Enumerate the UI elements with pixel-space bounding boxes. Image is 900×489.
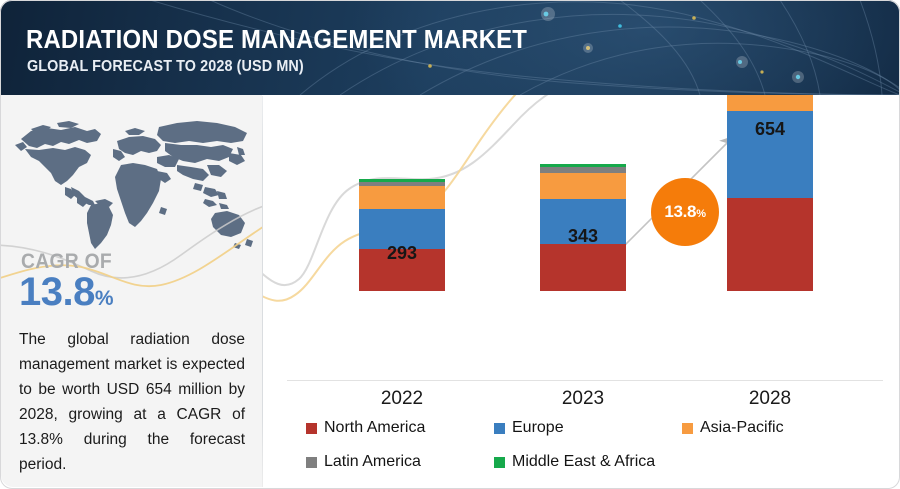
legend-label-latin-america: Latin America <box>324 453 421 471</box>
segment-asia-pacific[interactable] <box>727 95 813 111</box>
cagr-badge-percent: % <box>696 208 705 220</box>
legend-item-north-america[interactable]: North America <box>306 419 494 437</box>
cagr-number: 13.8 <box>19 270 95 314</box>
category-label-2023: 2023 <box>513 388 653 410</box>
cagr-badge[interactable]: 13.8% <box>651 178 719 246</box>
header-subtitle: GLOBAL FORECAST TO 2028 (USD MN) <box>27 58 304 76</box>
legend-label-north-america: North America <box>324 419 425 437</box>
cagr-percent-symbol: % <box>95 287 113 310</box>
bar-total-2028: 654 <box>710 119 830 140</box>
infographic-root: RADIATION DOSE MANAGEMENT MARKET GLOBAL … <box>0 0 900 489</box>
summary-paragraph: The global radiation dose management mar… <box>19 327 245 477</box>
left-summary-panel: CAGR OF 13.8% The global radiation dose … <box>1 95 262 487</box>
legend-label-middle-east-africa: Middle East & Africa <box>512 453 655 471</box>
legend-swatch-asia-pacific <box>682 423 693 434</box>
segment-north-america[interactable] <box>727 198 813 291</box>
legend-swatch-middle-east-africa <box>494 457 505 468</box>
header-title: RADIATION DOSE MANAGEMENT MARKET <box>26 24 527 55</box>
category-label-2028: 2028 <box>700 388 840 410</box>
cagr-badge-number: 13.8 <box>664 202 696 221</box>
legend-swatch-latin-america <box>306 457 317 468</box>
segment-asia-pacific[interactable] <box>540 173 626 199</box>
segment-asia-pacific[interactable] <box>359 186 445 209</box>
chart-legend: North America Europe Asia-Pacific Latin … <box>263 412 899 484</box>
legend-row-1: North America Europe Asia-Pacific <box>306 419 784 437</box>
segment-north-america[interactable] <box>540 244 626 291</box>
bar-total-2023: 343 <box>523 226 643 247</box>
legend-swatch-north-america <box>306 423 317 434</box>
legend-label-europe: Europe <box>512 419 564 437</box>
cagr-badge-text: 13.8% <box>664 202 705 222</box>
header-banner: RADIATION DOSE MANAGEMENT MARKET GLOBAL … <box>0 0 900 95</box>
legend-item-europe[interactable]: Europe <box>494 419 682 437</box>
legend-item-middle-east-africa[interactable]: Middle East & Africa <box>494 453 655 471</box>
bar-2022[interactable] <box>359 179 445 291</box>
legend-swatch-europe <box>494 423 505 434</box>
category-label-2022: 2022 <box>332 388 472 410</box>
legend-row-2: Latin America Middle East & Africa <box>306 453 655 471</box>
bar-total-2022: 293 <box>342 243 462 264</box>
legend-item-latin-america[interactable]: Latin America <box>306 453 494 471</box>
legend-label-asia-pacific: Asia-Pacific <box>700 419 784 437</box>
legend-item-asia-pacific[interactable]: Asia-Pacific <box>682 419 784 437</box>
bar-plot-area: 293 2022 343 2023 654 2028 <box>263 95 899 395</box>
cagr-value: 13.8% <box>19 270 113 315</box>
